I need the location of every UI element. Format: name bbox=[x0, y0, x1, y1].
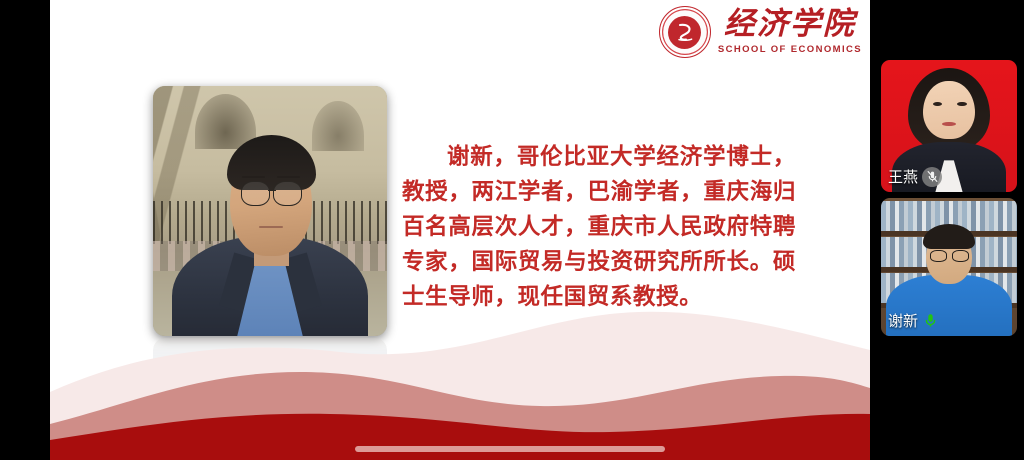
logo-chinese-name: 经济学院 bbox=[724, 9, 856, 40]
school-logo: 经济学院 SCHOOL OF ECONOMICS bbox=[659, 6, 862, 58]
participant-2-name: 谢新 bbox=[888, 310, 918, 331]
participant-tile-1[interactable]: 王燕 bbox=[881, 60, 1017, 192]
speaker-bio-text: 谢新，哥伦比亚大学经济学博士，教授，两江学者，巴渝学者，重庆海归百名高层次人才，… bbox=[402, 140, 796, 314]
participant-tile-2[interactable]: 谢新 bbox=[881, 198, 1017, 336]
participant-2-label: 谢新 bbox=[888, 310, 939, 331]
participant-1-label: 王燕 bbox=[888, 166, 942, 187]
slide-progress-bar[interactable] bbox=[355, 446, 665, 452]
screen-root: 经济学院 SCHOOL OF ECONOMICS bbox=[0, 0, 1024, 460]
logo-english-name: SCHOOL OF ECONOMICS bbox=[718, 45, 862, 55]
presentation-slide: 经济学院 SCHOOL OF ECONOMICS bbox=[50, 0, 870, 460]
university-seal-icon bbox=[659, 6, 711, 58]
participant-video-panel: 王燕 谢新 bbox=[870, 0, 1024, 460]
decorative-wave-graphic bbox=[50, 300, 870, 460]
participant-1-name: 王燕 bbox=[888, 166, 918, 187]
speaker-portrait-photo bbox=[153, 86, 387, 336]
microphone-muted-icon[interactable] bbox=[922, 167, 942, 187]
logo-wordmark: 经济学院 SCHOOL OF ECONOMICS bbox=[718, 9, 862, 55]
microphone-active-icon[interactable] bbox=[922, 311, 939, 330]
